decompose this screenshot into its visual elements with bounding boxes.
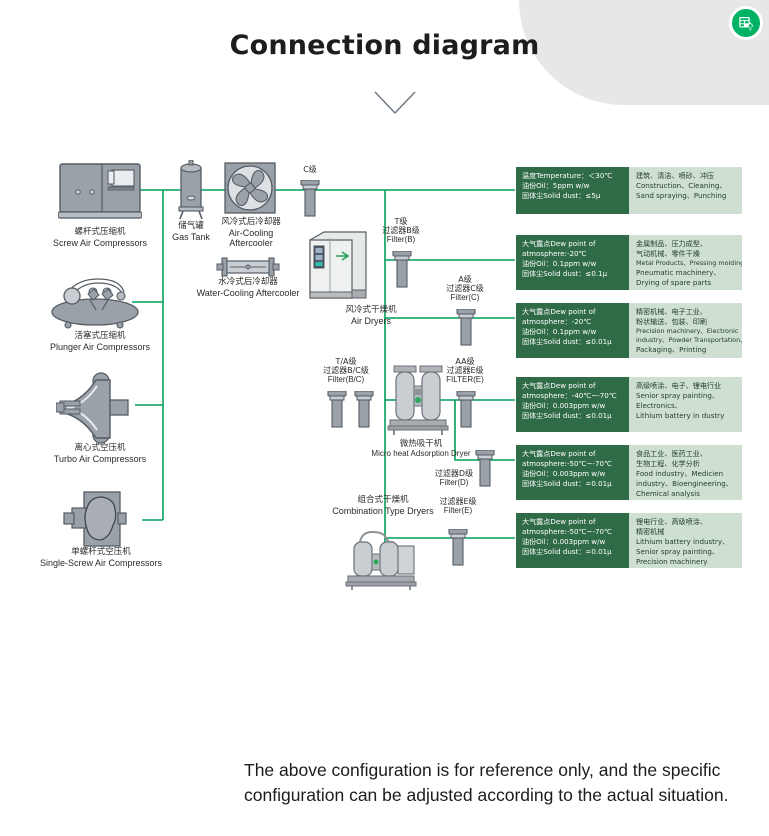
info-box-2: 大气露点Dew point of atmosphere：-20℃ 油份Oil：0… [516,303,742,358]
info-use-5: 锂电行业、高级喷涂、 精密机械 Lithium battery industry… [629,513,742,568]
info-box-4: 大气露点Dew point of atmosphere:-50℃~-70℃ 油份… [516,445,742,500]
screw-air-compressor-icon [58,162,142,229]
connection-diagram-page: Connection diagram [0,0,769,836]
turbo-air-compressor-icon [56,372,136,449]
fan-aftercooler-icon [224,162,276,219]
chevron-down-icon [373,90,417,116]
combination-type-dryer-icon [340,528,424,595]
info-box-3: 大气露点Dew point of atmosphere：-40℃~-70℃ 油份… [516,377,742,432]
info-spec-0: 温度Temperature：＜30℃ 油份Oil：5ppm w/w 固体尘Sol… [516,167,629,214]
filter-icon [390,251,414,294]
info-use-4: 食品工业、医药工业、 生物工程、化学分析 Food industry、Medic… [629,445,742,500]
filter-e-label: 过滤器E级 Filter(E) [428,498,488,516]
info-spec-1: 大气露点Dew point of atmosphere:-20℃ 油份Oil：0… [516,235,629,290]
filter-icon [352,391,376,434]
plunger-air-compressor-icon [50,274,140,335]
spreadsheet-upload-icon[interactable] [729,6,763,40]
info-spec-3: 大气露点Dew point of atmosphere：-40℃~-70℃ 油份… [516,377,629,432]
info-box-1: 大气露点Dew point of atmosphere:-20℃ 油份Oil：0… [516,235,742,290]
filter-icon [454,391,478,434]
filter-icon [454,309,478,352]
compressor-label-2: 离心式空压机 Turbo Air Compressors [16,444,184,464]
info-use-2: 精密机械、电子工业、 粉状输送、包装、印刷 Precision machiner… [629,303,742,358]
single-screw-air-compressor-icon [58,490,142,553]
info-spec-5: 大气露点Dew point of atmosphere:-50℃~-70℃ 油份… [516,513,629,568]
compressor-label-3: 单螺杆式空压机 Single-Screw Air Compressors [6,548,196,568]
info-box-0: 温度Temperature：＜30℃ 油份Oil：5ppm w/w 固体尘Sol… [516,167,742,214]
air-dryer-icon [306,230,370,307]
info-use-0: 建筑、清洁、喷砂、冲压 Construction、Cleaning、 Sand … [629,167,742,214]
filter-e-aa-label: AA级 过滤器E级 FILTER(E) [428,358,502,385]
info-spec-2: 大气露点Dew point of atmosphere：-20℃ 油份Oil：0… [516,303,629,358]
air-dryer-label: 风冷式干燥机 Air Dryers [316,306,426,326]
page-title: Connection diagram [0,30,769,61]
info-box-5: 大气露点Dew point of atmosphere:-50℃~-70℃ 油份… [516,513,742,568]
compressor-label-1: 活塞式压缩机 Plunger Air Compressors [16,332,184,352]
footer-note: The above configuration is for reference… [244,758,764,808]
air-cooling-aftercooler-label: 风冷式后冷却器 Air-Cooling Aftercooler [206,218,296,248]
filter-icon [446,529,470,572]
diagram-canvas: 螺杆式压缩机 Screw Air Compressors 活塞式压缩机 [0,150,769,610]
gas-tank-icon [175,160,207,225]
filter-icon [298,180,322,223]
info-use-1: 金属制品、压力成型、 气动机械、零件干燥 Metal Products、Pres… [629,235,742,290]
water-cooling-aftercooler-label: 水冷式后冷却器 Water-Cooling Aftercooler [188,278,308,298]
filter-bc-label: T/A级 过滤器B/C级 Filter(B/C) [306,358,386,385]
filter-c2-label: A级 过滤器C级 Filter(C) [428,276,502,303]
info-spec-4: 大气露点Dew point of atmosphere:-50℃~-70℃ 油份… [516,445,629,500]
info-use-3: 高级喷涂、电子、锂电行业 Senior spray painting、 Elec… [629,377,742,432]
filter-b-label: T级 过滤器B级 Filter(B) [364,218,438,245]
filter-c-grade-label: C级 [280,166,340,175]
filter-icon [325,391,349,434]
filter-d-label: 过滤器D级 Filter(D) [424,470,484,488]
